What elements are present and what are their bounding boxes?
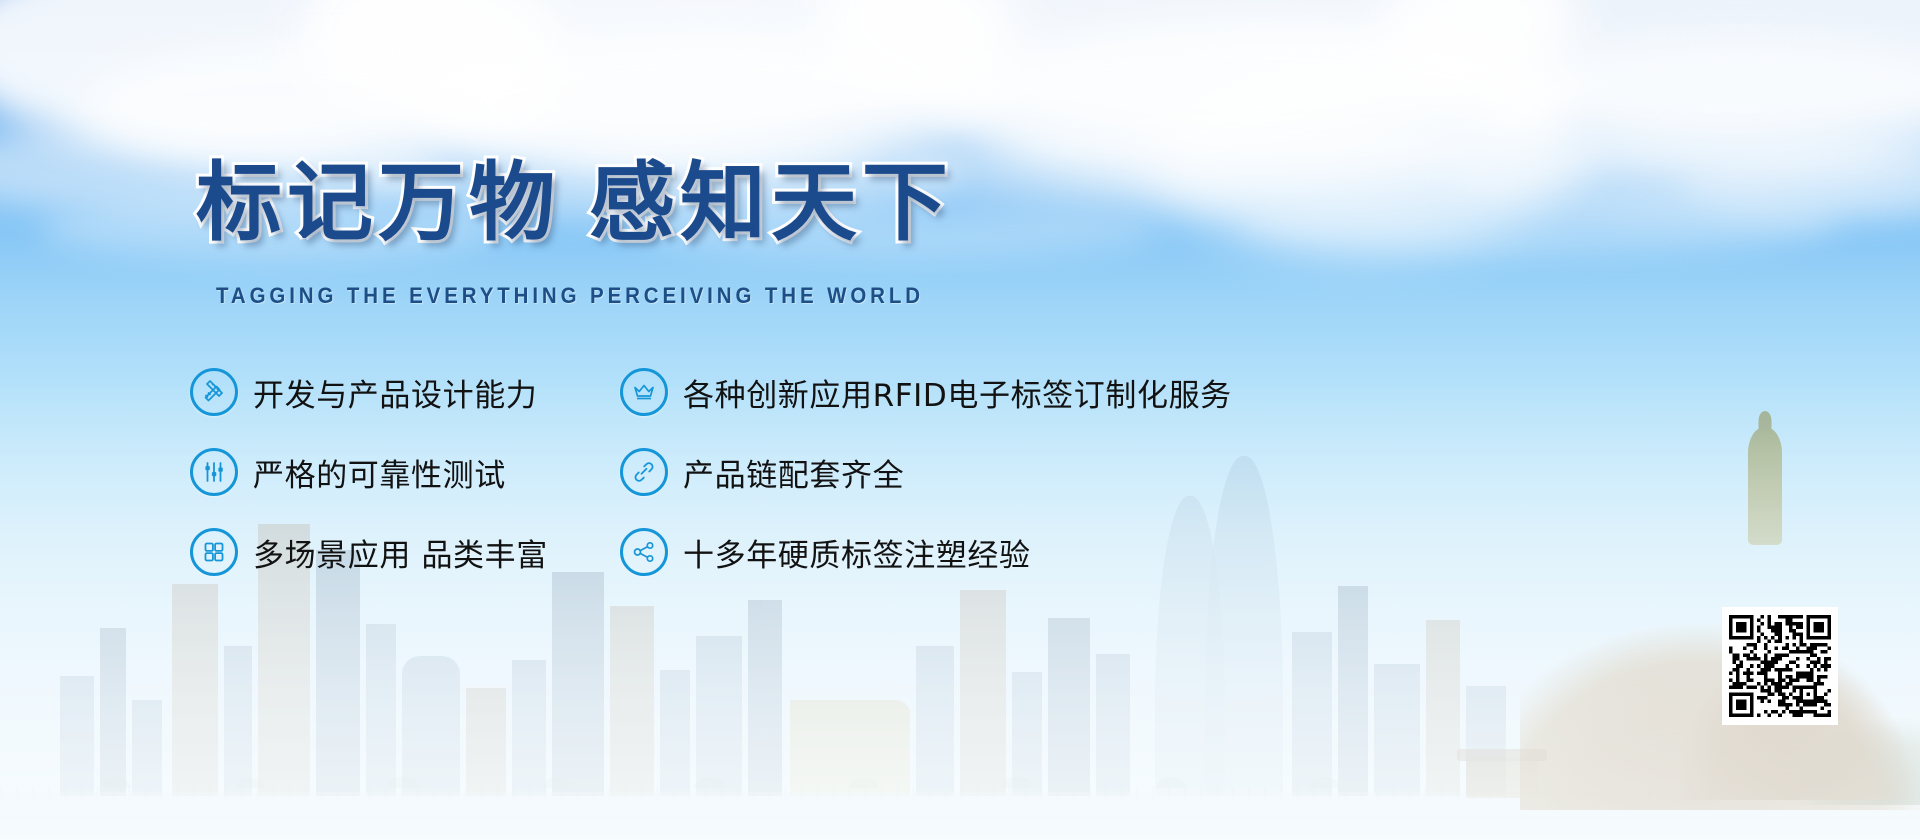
feature-label: 产品链配套齐全 — [683, 450, 904, 495]
page-title: 标记万物 感知天下 — [196, 158, 953, 249]
page-subtitle: TAGGING THE EVERYTHING PERCEIVING THE WO… — [216, 283, 924, 309]
qr-code-image — [1729, 614, 1831, 718]
feature-item-supply-chain: 产品链配套齐全 — [620, 432, 1232, 512]
crown-icon — [620, 368, 668, 416]
feature-label: 开发与产品设计能力 — [253, 370, 537, 415]
feature-item-design: 开发与产品设计能力 — [190, 352, 620, 432]
grid-squares-icon — [190, 528, 238, 576]
feature-item-multi-scenario: 多场景应用 品类丰富 — [190, 512, 620, 592]
pencil-ruler-icon — [190, 368, 238, 416]
hero-banner: 标记万物 感知天下 TAGGING THE EVERYTHING PERCEIV… — [0, 0, 1920, 840]
water — [0, 816, 1920, 840]
pavilion — [1466, 758, 1538, 798]
hillside-statue — [1748, 427, 1782, 545]
feature-item-experience: 十多年硬质标签注塑经验 — [620, 512, 1232, 592]
feature-label: 多场景应用 品类丰富 — [253, 530, 548, 575]
sliders-icon — [190, 448, 238, 496]
share-nodes-icon — [620, 528, 668, 576]
feature-list: 开发与产品设计能力 各种创新应用RFID电子标签订制化服务 — [190, 352, 1232, 592]
feature-item-rfid-service: 各种创新应用RFID电子标签订制化服务 — [620, 352, 1232, 432]
feature-label: 严格的可靠性测试 — [253, 450, 506, 495]
link-chain-icon — [620, 448, 668, 496]
qr-code[interactable] — [1722, 607, 1838, 725]
feature-item-reliability-test: 严格的可靠性测试 — [190, 432, 620, 512]
feature-label: 各种创新应用RFID电子标签订制化服务 — [683, 370, 1232, 415]
feature-label: 十多年硬质标签注塑经验 — [683, 530, 1031, 575]
